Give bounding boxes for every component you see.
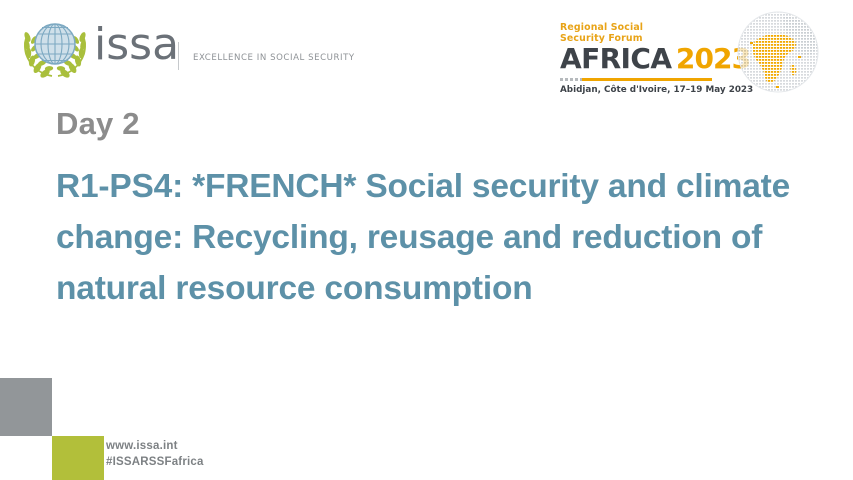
issa-tagline: EXCELLENCE IN SOCIAL SECURITY bbox=[193, 53, 355, 63]
forum-logo: Regional Social Security Forum AFRICA 20… bbox=[560, 22, 718, 92]
day-label: Day 2 bbox=[56, 106, 140, 142]
logo-divider bbox=[178, 42, 179, 70]
forum-place-date: Abidjan, Côte d'Ivoire, 17–19 May 2023 bbox=[560, 85, 718, 95]
footer-hashtag: #ISSARSSFafrica bbox=[106, 454, 204, 470]
halftone-globe-africa-icon bbox=[726, 8, 830, 96]
session-title: R1-PS4: *FRENCH* Social security and cli… bbox=[56, 161, 796, 314]
forum-rule-dashes bbox=[560, 78, 582, 81]
footer-website: www.issa.int bbox=[106, 438, 204, 454]
issa-globe-laurel-icon bbox=[18, 16, 92, 82]
footer-text: www.issa.int #ISSARSSFafrica bbox=[106, 438, 204, 470]
forum-title: AFRICA 2023 bbox=[560, 45, 718, 77]
issa-wordmark: issa bbox=[94, 23, 179, 67]
slide-header: issa EXCELLENCE IN SOCIAL SECURITY Regio… bbox=[0, 0, 853, 100]
forum-region: AFRICA bbox=[560, 42, 671, 75]
forum-rule bbox=[560, 78, 712, 81]
presentation-slide: issa EXCELLENCE IN SOCIAL SECURITY Regio… bbox=[0, 0, 853, 480]
footer-accent-block-gray bbox=[0, 378, 52, 436]
issa-logo: issa EXCELLENCE IN SOCIAL SECURITY bbox=[18, 16, 308, 82]
footer-accent-block-green bbox=[52, 436, 104, 480]
forum-kicker-line-1: Regional Social bbox=[560, 22, 718, 33]
